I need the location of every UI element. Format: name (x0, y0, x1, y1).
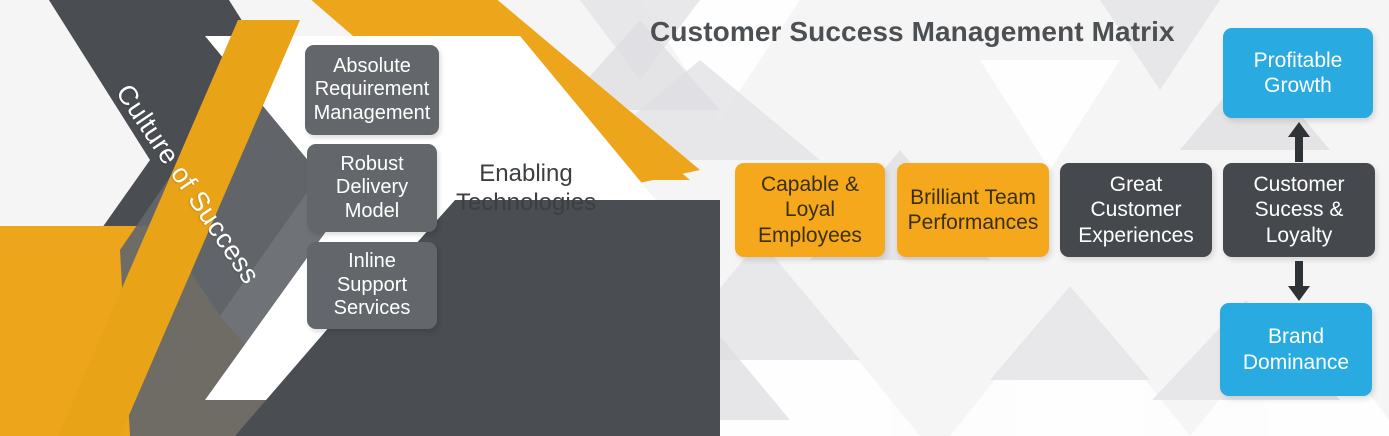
enabling-technologies-heading: Enabling Technologies (440, 160, 612, 218)
card-capable-loyal-employees[interactable]: Capable & Loyal Employees (735, 163, 885, 257)
arrow-down-icon (1286, 261, 1312, 301)
arrow-up-icon (1286, 122, 1312, 162)
pill-label: Absolute Requirement Management (313, 55, 431, 125)
card-brand-dominance[interactable]: Brand Dominance (1220, 303, 1372, 396)
page-title: Customer Success Management Matrix (650, 16, 1175, 48)
card-label: Great Customer Experiences (1067, 172, 1205, 248)
diagram-canvas: Culture of Success Absolute Requirement … (0, 0, 1389, 436)
card-label: Profitable Growth (1230, 48, 1366, 98)
card-label: Capable & Loyal Employees (742, 172, 878, 248)
pill-label: Robust Delivery Model (315, 153, 429, 223)
card-profitable-growth[interactable]: Profitable Growth (1223, 28, 1373, 118)
pill-absolute-requirement-management[interactable]: Absolute Requirement Management (305, 45, 439, 135)
card-brilliant-team-performances[interactable]: Brilliant Team Performances (897, 163, 1049, 257)
card-label: Customer Sucess & Loyalty (1230, 172, 1368, 248)
card-label: Brand Dominance (1227, 324, 1365, 374)
card-label: Brilliant Team Performances (904, 185, 1042, 235)
card-great-customer-experiences[interactable]: Great Customer Experiences (1060, 163, 1212, 257)
card-customer-success-loyalty[interactable]: Customer Sucess & Loyalty (1223, 163, 1375, 257)
pill-robust-delivery-model[interactable]: Robust Delivery Model (307, 144, 437, 232)
pill-inline-support-services[interactable]: Inline Support Services (307, 242, 437, 329)
pill-label: Inline Support Services (315, 250, 429, 320)
